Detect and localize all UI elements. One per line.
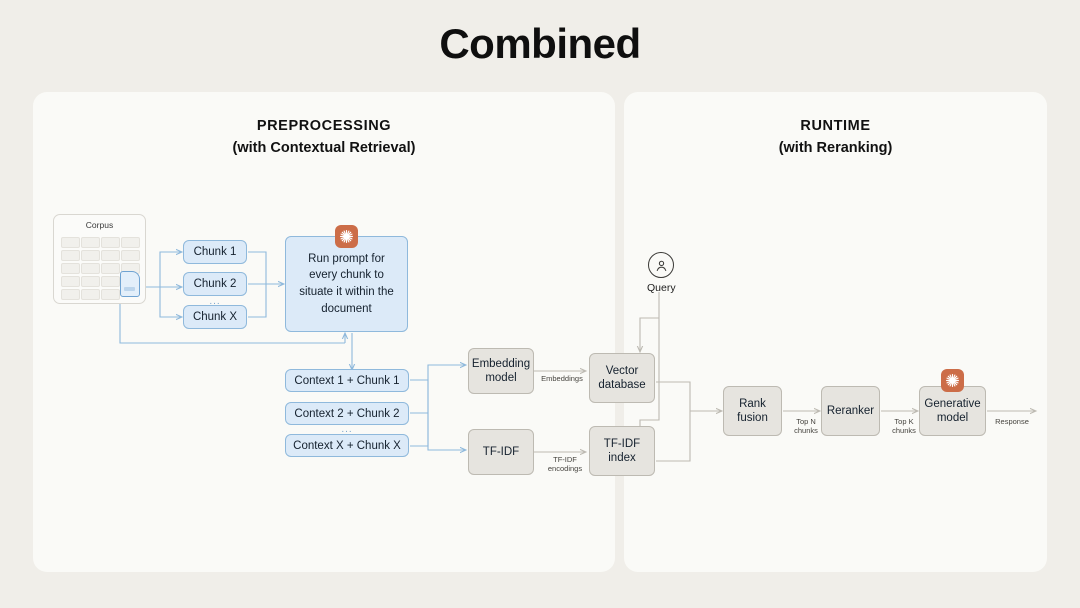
anthropic-sunburst-icon: [335, 225, 358, 248]
embedding-model-label: Embedding model: [472, 357, 530, 386]
corpus-doc-icon: [121, 250, 140, 261]
chunk-label: Chunk 2: [194, 278, 237, 290]
chunk-box-1[interactable]: Chunk 1: [183, 240, 247, 264]
edge-label-top-n: Top N chunks: [787, 417, 825, 435]
reranker-label: Reranker: [827, 404, 874, 418]
corpus-doc-icon: [61, 289, 80, 300]
vector-database-label: Vector database: [595, 364, 649, 393]
corpus-doc-icon: [101, 237, 120, 248]
context-label: Context 1 + Chunk 1: [294, 375, 399, 387]
sunburst-glyph: [339, 229, 354, 244]
generative-model-box[interactable]: Generative model: [919, 386, 986, 436]
corpus-doc-icon: [101, 250, 120, 261]
vector-database-box[interactable]: Vector database: [589, 353, 655, 403]
chunk-box-2[interactable]: Chunk 2: [183, 272, 247, 296]
tfidf-index-box[interactable]: TF-IDF index: [589, 426, 655, 476]
chunk-box-x[interactable]: Chunk X: [183, 305, 247, 329]
corpus-box: Corpus: [53, 214, 146, 304]
corpus-doc-icon: [101, 263, 120, 274]
reranker-box[interactable]: Reranker: [821, 386, 880, 436]
corpus-doc-icon: [61, 263, 80, 274]
corpus-doc-icon: [81, 263, 100, 274]
edge-label-tfidf-encodings: TF-IDF encodings: [540, 455, 590, 473]
rank-fusion-label: Rank fusion: [729, 397, 776, 426]
runtime-heading-line1: RUNTIME: [624, 118, 1047, 134]
tfidf-box[interactable]: TF-IDF: [468, 429, 534, 475]
corpus-doc-icon: [121, 237, 140, 248]
query-label: Query: [647, 282, 676, 294]
tfidf-label: TF-IDF: [483, 445, 519, 459]
corpus-label: Corpus: [54, 220, 145, 230]
panel-preprocessing: [33, 92, 615, 572]
corpus-doc-icon: [61, 250, 80, 261]
corpus-doc-icon: [61, 276, 80, 287]
corpus-doc-column: [121, 237, 138, 274]
corpus-doc-icon: [101, 276, 120, 287]
context-box-2[interactable]: Context 2 + Chunk 2: [285, 402, 409, 425]
context-box-x[interactable]: Context X + Chunk X: [285, 434, 409, 457]
corpus-doc-icon: [81, 250, 100, 261]
embedding-model-box[interactable]: Embedding model: [468, 348, 534, 394]
corpus-doc-column: [61, 237, 78, 300]
runtime-heading: RUNTIME (with Reranking): [624, 118, 1047, 156]
chunk-label: Chunk 1: [194, 246, 237, 258]
corpus-doc-icon: [81, 276, 100, 287]
context-box-1[interactable]: Context 1 + Chunk 1: [285, 369, 409, 392]
panel-runtime: [624, 92, 1047, 572]
edge-label-response: Response: [989, 417, 1035, 426]
sunburst-glyph: [945, 373, 960, 388]
avatar-glyph: [654, 258, 669, 273]
highlighted-document-icon[interactable]: [120, 271, 140, 297]
corpus-doc-icon: [101, 289, 120, 300]
edge-label-embeddings: Embeddings: [534, 374, 590, 383]
corpus-doc-icon: [81, 237, 100, 248]
rank-fusion-box[interactable]: Rank fusion: [723, 386, 782, 436]
tfidf-index-label: TF-IDF index: [595, 437, 649, 466]
edge-label-top-k: Top K chunks: [885, 417, 923, 435]
context-label: Context X + Chunk X: [293, 440, 401, 452]
query-node[interactable]: Query: [647, 252, 676, 294]
corpus-doc-icon: [61, 237, 80, 248]
preprocessing-heading-line1: PREPROCESSING: [33, 118, 615, 134]
corpus-doc-column: [101, 237, 118, 300]
generative-model-label: Generative model: [924, 397, 980, 426]
corpus-doc-column: [81, 237, 98, 300]
context-label: Context 2 + Chunk 2: [294, 408, 399, 420]
corpus-doc-icon: [81, 289, 100, 300]
preprocessing-heading: PREPROCESSING (with Contextual Retrieval…: [33, 118, 615, 156]
user-avatar-icon: [648, 252, 674, 278]
run-prompt-label: Run prompt for every chunk to situate it…: [296, 251, 397, 318]
preprocessing-heading-line2: (with Contextual Retrieval): [33, 140, 615, 156]
chunk-label: Chunk X: [193, 311, 237, 323]
page-title: Combined: [0, 20, 1080, 68]
run-prompt-box[interactable]: Run prompt for every chunk to situate it…: [285, 236, 408, 332]
anthropic-sunburst-icon: [941, 369, 964, 392]
runtime-heading-line2: (with Reranking): [624, 140, 1047, 156]
